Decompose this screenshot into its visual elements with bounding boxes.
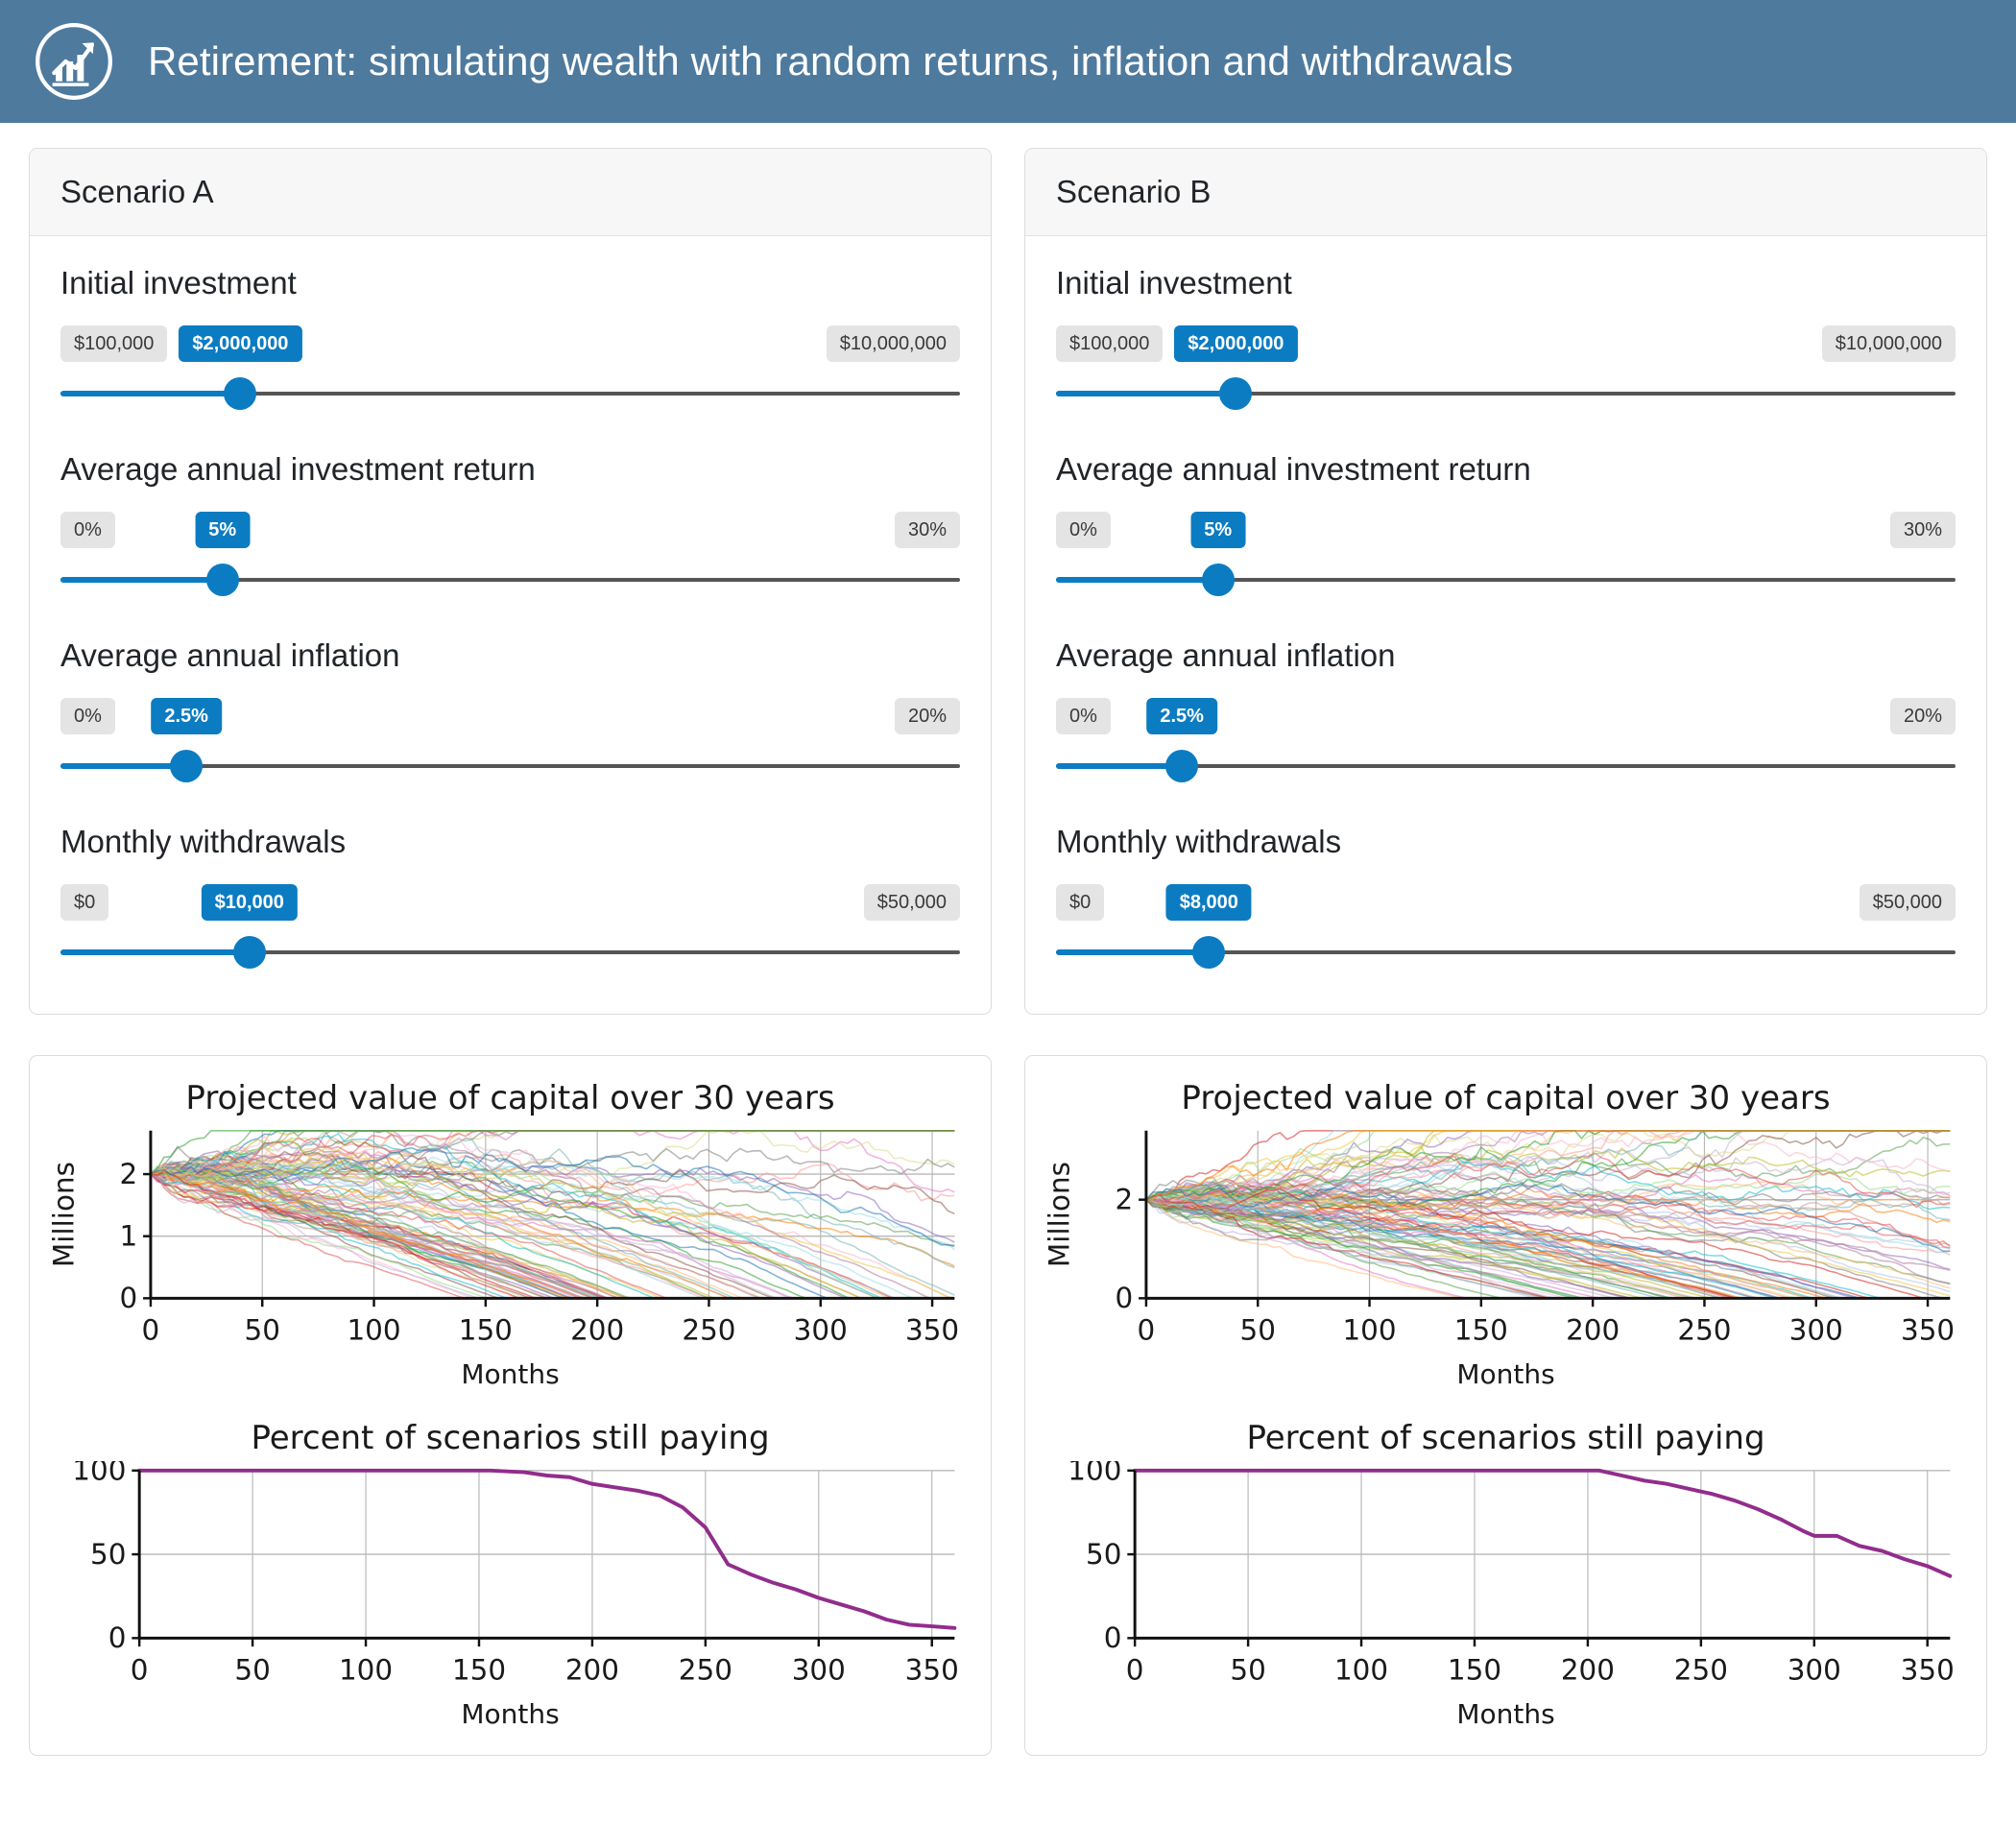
control-monthly-withdrawals-b: Monthly withdrawals $0 $8,000 $50,000 [1056,824,1956,972]
slider-fill [60,949,250,955]
svg-text:350: 350 [1901,1313,1955,1346]
slider-handle[interactable] [1192,936,1225,969]
control-label: Monthly withdrawals [60,824,960,860]
svg-text:250: 250 [679,1654,732,1687]
slider-value-badge: $2,000,000 [1174,325,1297,362]
scenario-a-header: Scenario A [30,149,991,236]
control-initial-investment-b: Initial investment $100,000 $2,000,000 $… [1056,265,1956,413]
svg-text:50: 50 [234,1654,270,1687]
capital-chart-a: 012050100150200250300350Millions [49,1121,972,1356]
badge-row: 0% 5% 30% [1056,509,1956,551]
scenario-b-title: Scenario B [1056,174,1956,210]
slider-annual-return-a[interactable] [60,561,960,599]
control-initial-investment-a: Initial investment $100,000 $2,000,000 $… [60,265,960,413]
scenario-b-header: Scenario B [1025,149,1986,236]
svg-text:2: 2 [1115,1183,1133,1215]
slider-min-badge: $0 [1056,884,1104,921]
svg-text:150: 150 [452,1654,506,1687]
svg-text:350: 350 [905,1654,959,1687]
chart-title: Percent of scenarios still paying [1044,1419,1967,1457]
svg-text:150: 150 [459,1313,513,1346]
svg-text:50: 50 [1086,1538,1121,1571]
slider-min-badge: 0% [60,512,115,548]
slider-fill [1056,763,1182,769]
chart-title: Projected value of capital over 30 years [49,1079,972,1117]
slider-fill [1056,577,1218,583]
slider-handle[interactable] [233,936,266,969]
slider-min-badge: 0% [60,698,115,734]
chart-card-b: Projected value of capital over 30 years… [1024,1055,1987,1756]
control-annual-inflation-a: Average annual inflation 0% 2.5% 20% [60,637,960,785]
svg-text:350: 350 [1901,1654,1955,1687]
survival-chart-b: 050100050100150200250300350 [1044,1461,1967,1696]
slider-initial-investment-b[interactable] [1056,374,1956,413]
slider-min-badge: 0% [1056,512,1111,548]
slider-max-badge: $50,000 [864,884,960,921]
slider-max-badge: $10,000,000 [1822,325,1956,362]
control-label: Average annual investment return [1056,451,1956,488]
slider-fill [1056,949,1209,955]
x-axis-label: Months [1044,1698,1967,1730]
slider-min-badge: $0 [60,884,108,921]
slider-value-badge: 5% [195,512,250,548]
slider-min-badge: 0% [1056,698,1111,734]
slider-max-badge: 30% [895,512,960,548]
svg-text:50: 50 [1240,1313,1276,1346]
survival-chart-a-block: Percent of scenarios still paying 050100… [49,1419,972,1730]
chart-title: Projected value of capital over 30 years [1044,1079,1967,1117]
charts-row: Projected value of capital over 30 years… [29,1055,1987,1756]
control-label: Average annual investment return [60,451,960,488]
svg-text:100: 100 [1342,1313,1396,1346]
svg-text:100: 100 [1068,1461,1121,1487]
svg-text:100: 100 [339,1654,393,1687]
svg-text:300: 300 [792,1654,846,1687]
badge-row: $100,000 $2,000,000 $10,000,000 [60,323,960,365]
svg-text:200: 200 [570,1313,624,1346]
slider-handle[interactable] [1202,564,1235,596]
badge-row: 0% 5% 30% [60,509,960,551]
svg-text:100: 100 [347,1313,400,1346]
control-label: Average annual inflation [60,637,960,674]
slider-value-badge: 2.5% [151,698,222,734]
slider-max-badge: 20% [1890,698,1956,734]
survival-chart-b-block: Percent of scenarios still paying 050100… [1044,1419,1967,1730]
control-label: Monthly withdrawals [1056,824,1956,860]
scenario-a-body: Initial investment $100,000 $2,000,000 $… [30,236,991,1014]
slider-min-badge: $100,000 [60,325,167,362]
slider-value-badge: 5% [1190,512,1245,548]
slider-monthly-withdrawals-a[interactable] [60,933,960,972]
slider-handle[interactable] [206,564,239,596]
svg-text:350: 350 [905,1313,959,1346]
chart-title: Percent of scenarios still paying [49,1419,972,1457]
svg-text:0: 0 [1104,1621,1122,1654]
svg-text:200: 200 [565,1654,619,1687]
x-axis-label: Months [49,1698,972,1730]
svg-text:Millions: Millions [1044,1162,1076,1267]
capital-chart-b: 02050100150200250300350Millions [1044,1121,1967,1356]
slider-max-badge: $10,000,000 [827,325,960,362]
slider-min-badge: $100,000 [1056,325,1163,362]
svg-text:Millions: Millions [49,1162,81,1267]
slider-annual-inflation-a[interactable] [60,747,960,785]
scenario-b-body: Initial investment $100,000 $2,000,000 $… [1025,236,1986,1014]
x-axis-label: Months [49,1358,972,1390]
slider-handle[interactable] [170,750,203,782]
svg-text:2: 2 [119,1158,137,1190]
svg-text:50: 50 [245,1313,280,1346]
slider-fill [60,763,186,769]
capital-chart-a-block: Projected value of capital over 30 years… [49,1079,972,1390]
chart-card-a: Projected value of capital over 30 years… [29,1055,992,1756]
scenario-a-title: Scenario A [60,174,960,210]
control-label: Initial investment [60,265,960,301]
slider-value-badge: $10,000 [202,884,298,921]
x-axis-label: Months [1044,1358,1967,1390]
badge-row: $100,000 $2,000,000 $10,000,000 [1056,323,1956,365]
svg-text:300: 300 [1788,1654,1841,1687]
capital-chart-b-block: Projected value of capital over 30 years… [1044,1079,1967,1390]
svg-text:0: 0 [131,1654,149,1687]
svg-text:0: 0 [1115,1282,1133,1314]
svg-text:0: 0 [142,1313,160,1346]
svg-text:0: 0 [1138,1313,1156,1346]
svg-text:0: 0 [119,1282,137,1314]
badge-row: 0% 2.5% 20% [60,695,960,737]
page-content: Scenario A Initial investment $100,000 $… [0,123,2016,1756]
slider-initial-investment-a[interactable] [60,374,960,413]
control-annual-return-b: Average annual investment return 0% 5% 3… [1056,451,1956,599]
slider-value-badge: 2.5% [1146,698,1217,734]
slider-handle[interactable] [1219,377,1252,410]
svg-text:300: 300 [794,1313,848,1346]
app-header: Retirement: simulating wealth with rando… [0,0,2016,123]
slider-value-badge: $8,000 [1166,884,1252,921]
control-monthly-withdrawals-a: Monthly withdrawals $0 $10,000 $50,000 [60,824,960,972]
scenario-card-a: Scenario A Initial investment $100,000 $… [29,148,992,1015]
svg-text:150: 150 [1454,1313,1508,1346]
slider-handle[interactable] [1165,750,1198,782]
scenario-card-b: Scenario B Initial investment $100,000 $… [1024,148,1987,1015]
growth-chart-circle-icon [33,20,115,103]
svg-text:100: 100 [72,1461,126,1487]
svg-text:0: 0 [108,1621,127,1654]
badge-row: 0% 2.5% 20% [1056,695,1956,737]
control-annual-inflation-b: Average annual inflation 0% 2.5% 20% [1056,637,1956,785]
slider-annual-inflation-b[interactable] [1056,747,1956,785]
control-annual-return-a: Average annual investment return 0% 5% 3… [60,451,960,599]
control-label: Initial investment [1056,265,1956,301]
svg-text:250: 250 [682,1313,735,1346]
slider-fill [60,577,223,583]
slider-annual-return-b[interactable] [1056,561,1956,599]
svg-text:1: 1 [119,1220,137,1253]
slider-max-badge: $50,000 [1860,884,1956,921]
svg-text:200: 200 [1566,1313,1620,1346]
svg-text:150: 150 [1448,1654,1501,1687]
svg-text:200: 200 [1561,1654,1615,1687]
svg-text:300: 300 [1789,1313,1843,1346]
slider-fill [60,391,240,396]
badge-row: $0 $8,000 $50,000 [1056,881,1956,924]
slider-monthly-withdrawals-b[interactable] [1056,933,1956,972]
svg-text:0: 0 [1126,1654,1144,1687]
scenario-cards-row: Scenario A Initial investment $100,000 $… [29,148,1987,1015]
slider-handle[interactable] [224,377,256,410]
svg-text:100: 100 [1334,1654,1388,1687]
page-title: Retirement: simulating wealth with rando… [148,38,1513,84]
badge-row: $0 $10,000 $50,000 [60,881,960,924]
survival-chart-a: 050100050100150200250300350 [49,1461,972,1696]
slider-max-badge: 20% [895,698,960,734]
svg-text:250: 250 [1674,1654,1728,1687]
slider-value-badge: $2,000,000 [179,325,301,362]
slider-fill [1056,391,1236,396]
control-label: Average annual inflation [1056,637,1956,674]
svg-text:50: 50 [90,1538,126,1571]
svg-text:50: 50 [1230,1654,1265,1687]
slider-max-badge: 30% [1890,512,1956,548]
svg-text:250: 250 [1677,1313,1731,1346]
